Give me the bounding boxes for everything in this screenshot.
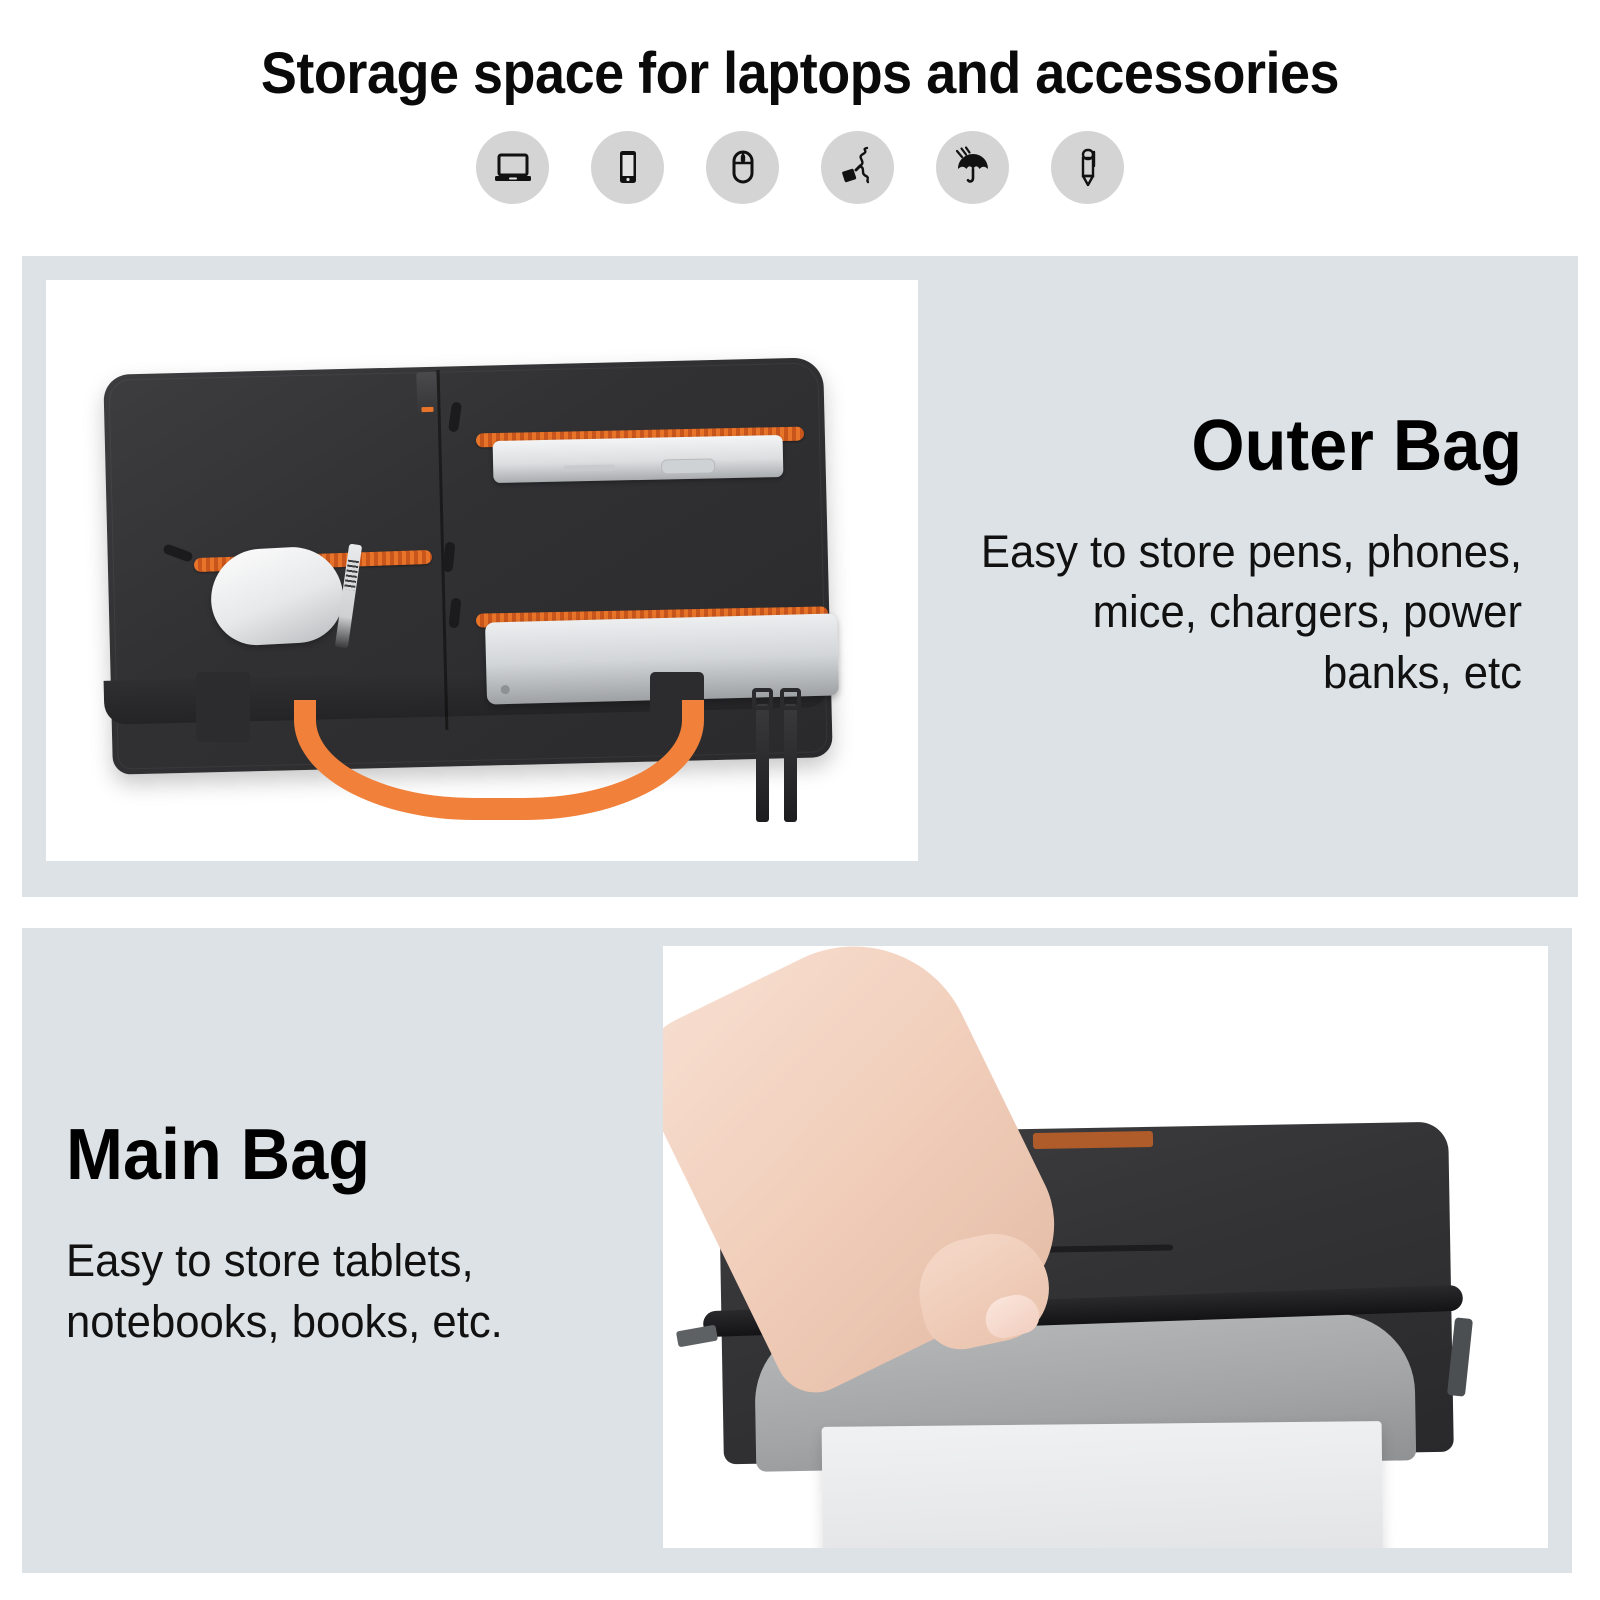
header: Storage space for laptops and accessorie…: [0, 0, 1600, 204]
outer-bag-photo: [46, 280, 918, 861]
main-bag-description: Easy to store tablets, notebooks, books,…: [66, 1231, 570, 1352]
feature-icon-row: [0, 131, 1600, 204]
pen-icon: [1051, 131, 1124, 204]
handle-loop-left: [196, 672, 250, 742]
phone-icon: [591, 131, 664, 204]
outer-bag-description: Easy to store pens, phones, mice, charge…: [956, 522, 1522, 703]
main-bag-photo: [663, 946, 1548, 1548]
main-bag-title: Main Bag: [66, 1119, 370, 1191]
stored-phone: [493, 435, 784, 483]
inserted-laptop: [822, 1421, 1385, 1548]
outer-bag-text: Outer Bag Easy to store pens, phones, mi…: [918, 256, 1578, 897]
brand-tag: [416, 372, 438, 419]
main-zipper-pull-2: [784, 704, 797, 822]
carry-handle: [294, 700, 704, 820]
panel-outer-bag: Outer Bag Easy to store pens, phones, mi…: [22, 256, 1578, 897]
bag-accent-strip: [1033, 1131, 1153, 1149]
umbrella-icon: [936, 131, 1009, 204]
main-zipper-pull-left: [676, 1325, 718, 1348]
main-zipper-pull-1: [756, 704, 769, 822]
main-bag-text: Main Bag Easy to store tablets, notebook…: [22, 928, 663, 1573]
stored-mouse: [209, 545, 346, 648]
panel-main-bag: Main Bag Easy to store tablets, notebook…: [22, 928, 1572, 1573]
mouse-icon: [706, 131, 779, 204]
outer-bag-title: Outer Bag: [1191, 410, 1522, 482]
charger-icon: [821, 131, 894, 204]
laptop-icon: [476, 131, 549, 204]
page-title: Storage space for laptops and accessorie…: [56, 44, 1544, 105]
